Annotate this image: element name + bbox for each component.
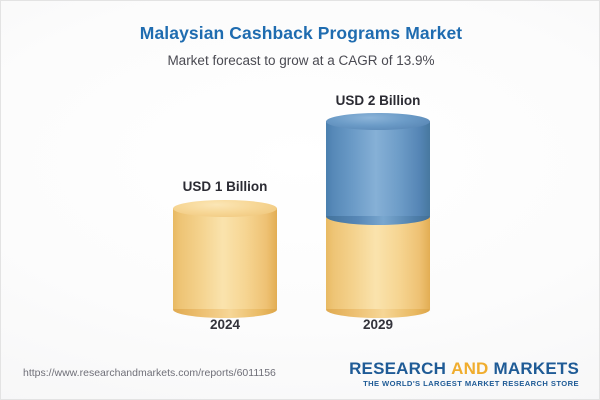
bar-group-2029: USD 2 Billion 2029 <box>303 1 453 346</box>
bar-segment-blue-2029 <box>326 121 430 216</box>
bar-cylinder-2029[interactable] <box>326 121 430 309</box>
category-label-2029: 2029 <box>303 317 453 332</box>
bar-value-label-2029: USD 2 Billion <box>303 93 453 108</box>
bar-segment-gold-2029 <box>326 216 430 309</box>
cylinder-top-cap <box>173 200 277 217</box>
bar-group-2024: USD 1 Billion 2024 <box>150 1 300 346</box>
logo-word-markets: MARKETS <box>494 359 579 378</box>
bar-cylinder-2024[interactable] <box>173 208 277 309</box>
logo-word-research: RESEARCH <box>349 359 446 378</box>
cylinder-body <box>173 208 277 309</box>
category-label-2024: 2024 <box>150 317 300 332</box>
cylinder-top-cap <box>326 113 430 130</box>
logo-tagline: THE WORLD'S LARGEST MARKET RESEARCH STOR… <box>349 379 579 388</box>
plot-area: USD 1 Billion 2024 USD 2 Billion <box>1 1 600 346</box>
chart-canvas: Malaysian Cashback Programs Market Marke… <box>0 0 600 400</box>
footer: https://www.researchandmarkets.com/repor… <box>1 351 599 399</box>
logo-wordmark: RESEARCHANDMARKETS <box>349 359 579 378</box>
bar-segment-gold-2024 <box>173 208 277 309</box>
cylinder-body <box>326 121 430 216</box>
cylinder-body <box>326 216 430 309</box>
report-url[interactable]: https://www.researchandmarkets.com/repor… <box>23 367 276 379</box>
logo-word-and: AND <box>451 359 488 378</box>
research-and-markets-logo[interactable]: RESEARCHANDMARKETS THE WORLD'S LARGEST M… <box>349 359 579 388</box>
bar-value-label-2024: USD 1 Billion <box>150 179 300 194</box>
